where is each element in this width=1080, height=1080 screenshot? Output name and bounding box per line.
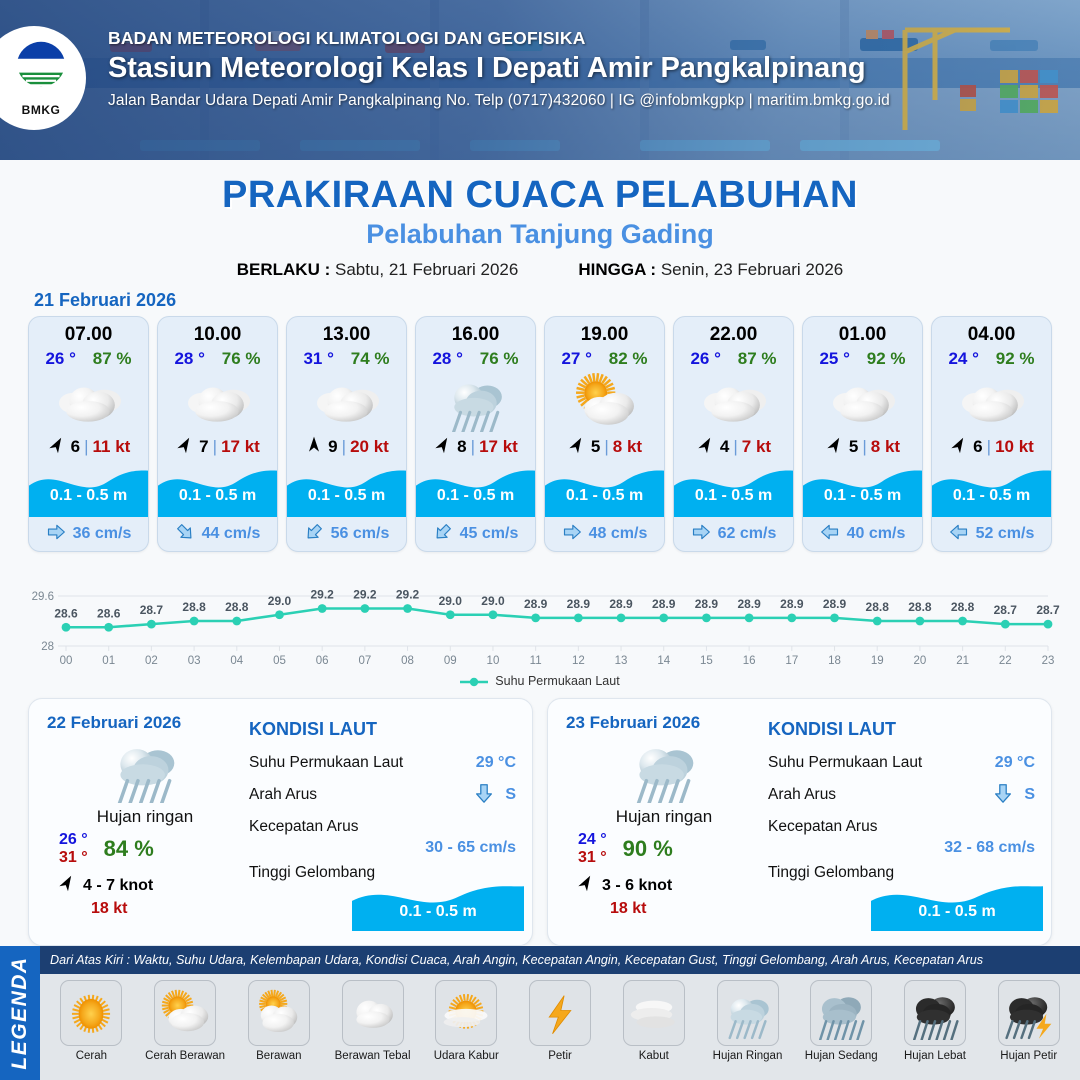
- card-current-speed: 40 cm/s: [847, 525, 906, 543]
- daily-sea-conditions: KONDISI LAUT Suhu Permukaan Laut 29 °C A…: [243, 699, 532, 945]
- sst-chart-svg: 29.6280001020304050607080910111213141516…: [20, 560, 1060, 672]
- legend-item-label: Hujan Lebat: [904, 1050, 966, 1062]
- current-direction-icon: [820, 522, 840, 547]
- daily-humidity: 84 %: [104, 836, 154, 862]
- legend-item: Hujan Sedang: [796, 980, 887, 1062]
- wind-direction-icon: [433, 435, 453, 460]
- card-gust: 7 kt: [742, 437, 771, 457]
- current-direction-icon: [304, 522, 324, 547]
- svg-text:28.9: 28.9: [524, 597, 548, 611]
- svg-text:10: 10: [487, 655, 500, 667]
- card-wave-block: 0.1 - 0.5 m: [29, 463, 148, 517]
- card-wave-block: 0.1 - 0.5 m: [158, 463, 277, 517]
- wind-separator: |: [471, 437, 475, 457]
- card-humidity: 76 %: [222, 349, 261, 369]
- card-temperature: 25 °: [819, 349, 849, 369]
- sea-conditions-title: KONDISI LAUT: [768, 719, 1035, 740]
- card-wind-row: 6 | 10 kt: [932, 433, 1051, 461]
- daily-temp-max: 31 °: [59, 849, 88, 867]
- legend-note: Dari Atas Kiri : Waktu, Suhu Udara, Kele…: [40, 946, 1080, 974]
- svg-text:28.9: 28.9: [823, 597, 847, 611]
- current-direction-value-group: S: [992, 782, 1035, 809]
- card-time: 01.00: [803, 317, 922, 346]
- daily-wind-row: 4 - 7 knot: [47, 873, 243, 898]
- svg-text:06: 06: [316, 655, 329, 667]
- svg-text:29.0: 29.0: [439, 594, 463, 608]
- daily-temp-min: 26 °: [59, 831, 88, 849]
- wind-separator: |: [987, 437, 991, 457]
- hingga-value: Senin, 23 Februari 2026: [661, 260, 843, 279]
- card-current-row: 56 cm/s: [287, 517, 406, 551]
- legend-item: Berawan Tebal: [327, 980, 418, 1062]
- daily-forecast-row: 22 Februari 2026 Hujan ringan 26 °: [0, 688, 1080, 946]
- card-humidity: 87 %: [93, 349, 132, 369]
- wind-direction-icon: [304, 435, 324, 460]
- svg-text:14: 14: [657, 655, 670, 667]
- card-time: 22.00: [674, 317, 793, 346]
- card-time: 13.00: [287, 317, 406, 346]
- svg-text:17: 17: [785, 655, 798, 667]
- bmkg-logo-text: BMKG: [12, 103, 70, 117]
- legend-item-label: Udara Kabur: [434, 1050, 499, 1062]
- svg-text:28.7: 28.7: [140, 603, 164, 617]
- hourly-card: 04.00 24 ° 92 %: [931, 316, 1052, 552]
- card-temp-humidity: 27 ° 82 %: [545, 346, 664, 369]
- hingga-label: HINGGA :: [578, 260, 656, 279]
- daily-humidity: 90 %: [623, 836, 673, 862]
- card-gust: 17 kt: [479, 437, 518, 457]
- card-current-speed: 45 cm/s: [460, 525, 519, 543]
- daily-wave-height: 0.1 - 0.5 m: [871, 903, 1043, 921]
- bmkg-logo-mark: [12, 39, 70, 97]
- card-humidity: 87 %: [738, 349, 777, 369]
- card-weather-icon: [287, 371, 406, 433]
- card-weather-icon: [416, 371, 535, 433]
- card-gust: 17 kt: [221, 437, 260, 457]
- card-wave-height: 0.1 - 0.5 m: [932, 487, 1051, 505]
- card-wave-height: 0.1 - 0.5 m: [416, 487, 535, 505]
- card-gust: 8 kt: [613, 437, 642, 457]
- sst-chart: 29.6280001020304050607080910111213141516…: [20, 560, 1060, 672]
- svg-text:28.6: 28.6: [54, 606, 78, 620]
- legend-icon-berawan-tebal-icon: [342, 980, 404, 1046]
- current-speed-label: Kecepatan Arus: [249, 818, 358, 836]
- wind-direction-icon: [949, 435, 969, 460]
- card-current-row: 48 cm/s: [545, 517, 664, 551]
- daily-temp-humidity: 24 ° 31 ° 90 %: [566, 831, 762, 867]
- legend-item: Petir: [515, 980, 606, 1062]
- svg-text:09: 09: [444, 655, 457, 667]
- svg-text:13: 13: [615, 655, 628, 667]
- svg-text:29.0: 29.0: [481, 594, 505, 608]
- daily-wind-speed: 4 - 7 knot: [83, 877, 153, 895]
- card-wind-row: 5 | 8 kt: [545, 433, 664, 461]
- daily-weather-icon: [566, 735, 762, 803]
- card-temperature: 28 °: [432, 349, 462, 369]
- legend-item: Hujan Ringan: [702, 980, 793, 1062]
- sst-row: Suhu Permukaan Laut 29 °C: [249, 747, 516, 779]
- legend-icon-hujan-ringan-icon: [717, 980, 779, 1046]
- current-direction-value: S: [1024, 786, 1035, 804]
- card-temp-humidity: 25 ° 92 %: [803, 346, 922, 369]
- legend-item: Cerah Berawan: [140, 980, 231, 1062]
- chart-legend: Suhu Permukaan Laut: [0, 674, 1080, 688]
- hourly-card: 07.00 26 ° 87 %: [28, 316, 149, 552]
- svg-text:28.8: 28.8: [951, 600, 975, 614]
- legend-icon-hujan-petir-icon: [998, 980, 1060, 1046]
- daily-forecast-card: 22 Februari 2026 Hujan ringan 26 °: [28, 698, 533, 946]
- svg-text:08: 08: [401, 655, 414, 667]
- wind-direction-icon: [47, 435, 67, 460]
- wind-separator: |: [84, 437, 88, 457]
- legend-icon-hujan-lebat-icon: [904, 980, 966, 1046]
- svg-text:16: 16: [743, 655, 756, 667]
- card-wind-speed: 4: [720, 437, 729, 457]
- chart-legend-label: Suhu Permukaan Laut: [495, 674, 619, 688]
- card-current-speed: 56 cm/s: [331, 525, 390, 543]
- current-speed-label: Kecepatan Arus: [768, 818, 877, 836]
- svg-text:07: 07: [358, 655, 371, 667]
- current-direction-icon: [433, 522, 453, 547]
- svg-text:02: 02: [145, 655, 158, 667]
- sst-label: Suhu Permukaan Laut: [249, 754, 403, 772]
- card-wind-row: 5 | 8 kt: [803, 433, 922, 461]
- card-current-row: 36 cm/s: [29, 517, 148, 551]
- daily-left-column: 23 Februari 2026 Hujan ringan 24 °: [548, 699, 762, 945]
- sst-label: Suhu Permukaan Laut: [768, 754, 922, 772]
- wind-separator: |: [733, 437, 737, 457]
- card-temp-humidity: 31 ° 74 %: [287, 346, 406, 369]
- daily-temp-min: 24 °: [578, 831, 607, 849]
- card-current-row: 45 cm/s: [416, 517, 535, 551]
- sea-conditions-title: KONDISI LAUT: [249, 719, 516, 740]
- daily-wave-height: 0.1 - 0.5 m: [352, 903, 524, 921]
- legend-icon-hujan-sedang-icon: [810, 980, 872, 1046]
- svg-text:15: 15: [700, 655, 713, 667]
- daily-temp-column: 26 ° 31 °: [59, 831, 88, 867]
- legend-item: Berawan: [233, 980, 324, 1062]
- hourly-card: 13.00 31 ° 74 %: [286, 316, 407, 552]
- legend-item: Cerah: [46, 980, 137, 1062]
- card-current-row: 52 cm/s: [932, 517, 1051, 551]
- svg-text:28.7: 28.7: [994, 603, 1018, 617]
- card-temperature: 31 °: [303, 349, 333, 369]
- current-direction-icon: [46, 522, 66, 547]
- daily-forecast-card: 23 Februari 2026 Hujan ringan 24 °: [547, 698, 1052, 946]
- current-direction-row: Arah Arus S: [249, 779, 516, 811]
- header-text-block: BADAN METEOROLOGI KLIMATOLOGI DAN GEOFIS…: [108, 28, 1038, 110]
- wind-separator: |: [604, 437, 608, 457]
- page-header: BMKG BADAN METEOROLOGI KLIMATOLOGI DAN G…: [0, 0, 1080, 160]
- svg-text:03: 03: [188, 655, 201, 667]
- svg-text:29.6: 29.6: [32, 591, 54, 603]
- current-direction-label: Arah Arus: [249, 786, 317, 804]
- svg-text:29.2: 29.2: [353, 588, 377, 602]
- card-humidity: 92 %: [996, 349, 1035, 369]
- card-weather-icon: [932, 371, 1051, 433]
- svg-text:28.8: 28.8: [225, 600, 249, 614]
- card-time: 04.00: [932, 317, 1051, 346]
- legend-item-label: Kabut: [639, 1050, 669, 1062]
- legend-side-title: LEGENDA: [8, 956, 32, 1069]
- svg-text:29.2: 29.2: [310, 588, 334, 602]
- card-wave-height: 0.1 - 0.5 m: [287, 487, 406, 505]
- svg-text:12: 12: [572, 655, 585, 667]
- daily-condition: Hujan ringan: [566, 807, 762, 827]
- card-time: 10.00: [158, 317, 277, 346]
- svg-text:28.8: 28.8: [866, 600, 890, 614]
- card-humidity: 74 %: [351, 349, 390, 369]
- current-speed-value: 30 - 65 cm/s: [249, 839, 516, 857]
- chart-legend-marker: [460, 676, 488, 686]
- current-direction-icon: [562, 522, 582, 547]
- legend-side-banner: LEGENDA: [0, 946, 40, 1080]
- hourly-card: 10.00 28 ° 76 %: [157, 316, 278, 552]
- berlaku-label: BERLAKU :: [237, 260, 331, 279]
- card-temp-humidity: 24 ° 92 %: [932, 346, 1051, 369]
- hourly-date-label: 21 Februari 2026: [34, 290, 1080, 311]
- card-current-speed: 36 cm/s: [73, 525, 132, 543]
- legend-item: Hujan Lebat: [890, 980, 981, 1062]
- card-gust: 10 kt: [995, 437, 1034, 457]
- svg-text:28.9: 28.9: [609, 597, 633, 611]
- wind-direction-icon: [696, 435, 716, 460]
- svg-text:28.7: 28.7: [1036, 603, 1060, 617]
- card-gust: 20 kt: [350, 437, 389, 457]
- legend-items-row: Cerah Cerah Berawan: [40, 974, 1080, 1080]
- card-temp-humidity: 28 ° 76 %: [416, 346, 535, 369]
- card-wave-height: 0.1 - 0.5 m: [674, 487, 793, 505]
- card-weather-icon: [674, 371, 793, 433]
- hourly-card: 16.00 28 ° 76 % 8: [415, 316, 536, 552]
- card-temperature: 26 °: [45, 349, 75, 369]
- validity-row: BERLAKU : Sabtu, 21 Februari 2026 HINGGA…: [0, 260, 1080, 280]
- daily-current-direction-icon: [473, 782, 495, 809]
- wind-direction-icon: [175, 435, 195, 460]
- svg-text:28: 28: [41, 641, 54, 653]
- daily-current-direction-icon: [992, 782, 1014, 809]
- card-wave-block: 0.1 - 0.5 m: [287, 463, 406, 517]
- card-wind-speed: 6: [973, 437, 982, 457]
- card-temperature: 26 °: [690, 349, 720, 369]
- legend-item: Kabut: [608, 980, 699, 1062]
- legend-icon-udara-kabur-icon: [435, 980, 497, 1046]
- legend-footer: LEGENDA Dari Atas Kiri : Waktu, Suhu Uda…: [0, 946, 1080, 1080]
- card-temperature: 27 °: [561, 349, 591, 369]
- card-wave-height: 0.1 - 0.5 m: [158, 487, 277, 505]
- card-wave-height: 0.1 - 0.5 m: [545, 487, 664, 505]
- berlaku-group: BERLAKU : Sabtu, 21 Februari 2026: [237, 260, 519, 280]
- daily-date: 23 Februari 2026: [566, 713, 762, 733]
- card-wind-speed: 5: [849, 437, 858, 457]
- card-time: 07.00: [29, 317, 148, 346]
- card-wind-row: 6 | 11 kt: [29, 433, 148, 461]
- card-current-row: 40 cm/s: [803, 517, 922, 551]
- svg-text:20: 20: [914, 655, 927, 667]
- card-current-speed: 48 cm/s: [589, 525, 648, 543]
- daily-date: 22 Februari 2026: [47, 713, 243, 733]
- hourly-card: 22.00 26 ° 87 %: [673, 316, 794, 552]
- card-current-speed: 52 cm/s: [976, 525, 1035, 543]
- card-current-speed: 62 cm/s: [718, 525, 777, 543]
- card-wind-speed: 9: [328, 437, 337, 457]
- svg-text:28.9: 28.9: [652, 597, 676, 611]
- card-humidity: 82 %: [609, 349, 648, 369]
- daily-temp-column: 24 ° 31 °: [578, 831, 607, 867]
- svg-text:28.8: 28.8: [182, 600, 206, 614]
- agency-name: BADAN METEOROLOGI KLIMATOLOGI DAN GEOFIS…: [108, 28, 1038, 49]
- daily-left-column: 22 Februari 2026 Hujan ringan 26 °: [29, 699, 243, 945]
- card-wave-block: 0.1 - 0.5 m: [674, 463, 793, 517]
- card-wind-row: 7 | 17 kt: [158, 433, 277, 461]
- svg-text:28.9: 28.9: [737, 597, 761, 611]
- daily-wave-block: 0.1 - 0.5 m: [352, 879, 524, 931]
- daily-wind-row: 3 - 6 knot: [566, 873, 762, 898]
- card-current-row: 62 cm/s: [674, 517, 793, 551]
- card-wave-height: 0.1 - 0.5 m: [29, 487, 148, 505]
- station-name: Stasiun Meteorologi Kelas I Depati Amir …: [108, 52, 1038, 85]
- card-weather-icon: [803, 371, 922, 433]
- svg-text:05: 05: [273, 655, 286, 667]
- hourly-forecast-row: 07.00 26 ° 87 %: [0, 316, 1080, 552]
- card-wind-row: 9 | 20 kt: [287, 433, 406, 461]
- card-humidity: 76 %: [480, 349, 519, 369]
- card-wind-speed: 6: [71, 437, 80, 457]
- svg-text:29.0: 29.0: [268, 594, 292, 608]
- daily-weather-icon: [47, 735, 243, 803]
- svg-text:28.9: 28.9: [567, 597, 591, 611]
- daily-sea-conditions: KONDISI LAUT Suhu Permukaan Laut 29 °C A…: [762, 699, 1051, 945]
- card-weather-icon: [29, 371, 148, 433]
- card-wind-speed: 8: [457, 437, 466, 457]
- legend-icon-petir-icon: [529, 980, 591, 1046]
- card-wind-row: 8 | 17 kt: [416, 433, 535, 461]
- daily-temp-humidity: 26 ° 31 ° 84 %: [47, 831, 243, 867]
- card-wave-block: 0.1 - 0.5 m: [803, 463, 922, 517]
- station-contact: Jalan Bandar Udara Depati Amir Pangkalpi…: [108, 92, 1038, 110]
- svg-text:29.2: 29.2: [396, 588, 420, 602]
- card-wave-block: 0.1 - 0.5 m: [416, 463, 535, 517]
- legend-item-label: Berawan: [256, 1050, 301, 1062]
- svg-text:28.9: 28.9: [695, 597, 719, 611]
- sst-value: 29 °C: [476, 754, 516, 772]
- svg-text:00: 00: [60, 655, 73, 667]
- card-weather-icon: [158, 371, 277, 433]
- legend-icon-cerah-icon: [60, 980, 122, 1046]
- current-direction-icon: [175, 522, 195, 547]
- card-current-speed: 44 cm/s: [202, 525, 261, 543]
- svg-text:11: 11: [530, 655, 542, 667]
- wind-separator: |: [213, 437, 217, 457]
- wind-direction-icon: [825, 435, 845, 460]
- svg-text:23: 23: [1042, 655, 1055, 667]
- card-time: 16.00: [416, 317, 535, 346]
- daily-wind-direction-icon: [576, 873, 596, 898]
- card-temp-humidity: 26 ° 87 %: [29, 346, 148, 369]
- berlaku-value: Sabtu, 21 Februari 2026: [335, 260, 518, 279]
- svg-text:22: 22: [999, 655, 1012, 667]
- hourly-card: 01.00 25 ° 92 %: [802, 316, 923, 552]
- legend-item-label: Petir: [548, 1050, 572, 1062]
- legend-item-label: Hujan Sedang: [805, 1050, 878, 1062]
- current-speed-value: 32 - 68 cm/s: [768, 839, 1035, 857]
- card-temperature: 28 °: [174, 349, 204, 369]
- legend-item-label: Hujan Ringan: [713, 1050, 783, 1062]
- card-temp-humidity: 26 ° 87 %: [674, 346, 793, 369]
- hingga-group: HINGGA : Senin, 23 Februari 2026: [578, 260, 843, 280]
- legend-item-label: Cerah Berawan: [145, 1050, 225, 1062]
- card-humidity: 92 %: [867, 349, 906, 369]
- daily-wind-speed: 3 - 6 knot: [602, 877, 672, 895]
- svg-text:04: 04: [230, 655, 243, 667]
- card-wind-speed: 5: [591, 437, 600, 457]
- svg-text:01: 01: [102, 655, 115, 667]
- card-current-row: 44 cm/s: [158, 517, 277, 551]
- card-wave-block: 0.1 - 0.5 m: [545, 463, 664, 517]
- wind-separator: |: [862, 437, 866, 457]
- card-wind-row: 4 | 7 kt: [674, 433, 793, 461]
- legend-item-label: Hujan Petir: [1000, 1050, 1057, 1062]
- svg-text:18: 18: [828, 655, 841, 667]
- daily-gust: 18 kt: [610, 900, 762, 918]
- card-wave-block: 0.1 - 0.5 m: [932, 463, 1051, 517]
- card-weather-icon: [545, 371, 664, 433]
- sst-value: 29 °C: [995, 754, 1035, 772]
- hourly-card: 19.00 27 ° 82 % 5 | 8 kt: [544, 316, 665, 552]
- card-temperature: 24 °: [948, 349, 978, 369]
- svg-text:28.8: 28.8: [908, 600, 932, 614]
- daily-wind-direction-icon: [57, 873, 77, 898]
- current-direction-icon: [949, 522, 969, 547]
- current-direction-row: Arah Arus S: [768, 779, 1035, 811]
- legend-icon-kabut-icon: [623, 980, 685, 1046]
- legend-item: Udara Kabur: [421, 980, 512, 1062]
- svg-text:28.6: 28.6: [97, 606, 121, 620]
- svg-text:19: 19: [871, 655, 884, 667]
- card-gust: 8 kt: [871, 437, 900, 457]
- legend-item-label: Berawan Tebal: [335, 1050, 411, 1062]
- legend-item-label: Cerah: [76, 1050, 107, 1062]
- legend-item: Hujan Petir: [983, 980, 1074, 1062]
- current-direction-value-group: S: [473, 782, 516, 809]
- card-gust: 11 kt: [93, 437, 131, 457]
- daily-wave-block: 0.1 - 0.5 m: [871, 879, 1043, 931]
- page-title: PRAKIRAAN CUACA PELABUHAN: [0, 174, 1080, 217]
- svg-text:21: 21: [956, 655, 969, 667]
- svg-text:28.9: 28.9: [780, 597, 804, 611]
- current-direction-icon: [691, 522, 711, 547]
- page-subtitle: Pelabuhan Tanjung Gading: [0, 219, 1080, 250]
- daily-temp-max: 31 °: [578, 849, 607, 867]
- daily-gust: 18 kt: [91, 900, 243, 918]
- card-time: 19.00: [545, 317, 664, 346]
- sst-row: Suhu Permukaan Laut 29 °C: [768, 747, 1035, 779]
- wind-separator: |: [342, 437, 346, 457]
- wind-direction-icon: [567, 435, 587, 460]
- current-direction-value: S: [505, 786, 516, 804]
- card-wind-speed: 7: [199, 437, 208, 457]
- daily-condition: Hujan ringan: [47, 807, 243, 827]
- card-wave-height: 0.1 - 0.5 m: [803, 487, 922, 505]
- legend-icon-berawan-sun-icon: [248, 980, 310, 1046]
- legend-icon-cerah-berawan-icon: [154, 980, 216, 1046]
- card-temp-humidity: 28 ° 76 %: [158, 346, 277, 369]
- current-direction-label: Arah Arus: [768, 786, 836, 804]
